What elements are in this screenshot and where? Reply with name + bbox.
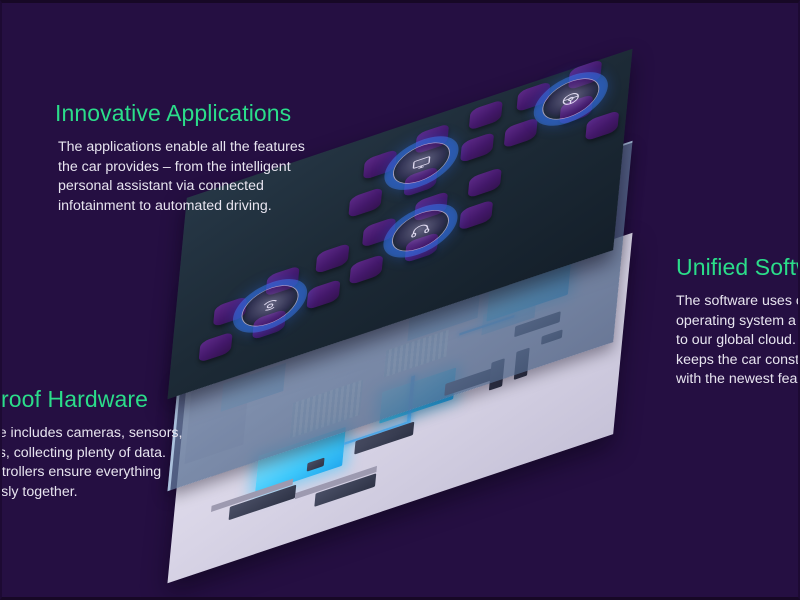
applications-heading: Innovative Applications bbox=[55, 100, 305, 127]
assistant-icon bbox=[407, 220, 433, 242]
app-tile bbox=[459, 199, 493, 231]
applications-body-line: personal assistant via connected bbox=[58, 177, 305, 197]
software-body-line: operating system a bbox=[676, 312, 800, 332]
hardware-body-line: re includes cameras, sensors, bbox=[0, 424, 182, 444]
hardware-text-block: roof Hardware re includes cameras, senso… bbox=[0, 386, 182, 502]
hardware-heading: roof Hardware bbox=[0, 386, 182, 413]
applications-text-block: Innovative Applications The applications… bbox=[55, 100, 305, 216]
hardware-body: re includes cameras, sensors, rs, collec… bbox=[0, 424, 182, 502]
software-body-line: with the newest fea bbox=[676, 370, 800, 390]
app-tile bbox=[198, 331, 232, 363]
app-tile bbox=[585, 110, 619, 142]
software-body: The software uses o operating system a t… bbox=[676, 292, 800, 390]
app-tile bbox=[469, 99, 503, 131]
app-tile bbox=[460, 132, 494, 164]
software-text-block: Unified Softw The software uses o operat… bbox=[676, 254, 800, 390]
app-tile bbox=[315, 243, 349, 275]
software-body-line: to our global cloud. bbox=[676, 331, 800, 351]
applications-body: The applications enable all the features… bbox=[55, 138, 305, 216]
hardware-body-line: ntrollers ensure everything bbox=[0, 463, 182, 483]
software-body-line: keeps the car const bbox=[676, 351, 800, 371]
software-body-line: The software uses o bbox=[676, 292, 800, 312]
screen-icon bbox=[408, 152, 434, 174]
app-tile bbox=[348, 187, 382, 219]
chip bbox=[354, 422, 414, 455]
hardware-body-line: ssly together. bbox=[0, 483, 182, 503]
app-tile bbox=[468, 167, 502, 199]
applications-body-line: infotainment to automated driving. bbox=[58, 197, 305, 217]
app-tile bbox=[504, 117, 538, 149]
applications-body-line: the car provides – from the intelligent bbox=[58, 158, 305, 178]
applications-body-line: The applications enable all the features bbox=[58, 138, 305, 158]
software-heading: Unified Softw bbox=[676, 254, 800, 281]
slide-canvas: Innovative Applications The applications… bbox=[0, 0, 800, 600]
connectivity-icon bbox=[257, 295, 283, 317]
steering-wheel-icon bbox=[558, 88, 584, 110]
hardware-body-line: rs, collecting plenty of data. bbox=[0, 444, 182, 464]
app-tile bbox=[349, 254, 383, 286]
app-tile bbox=[306, 279, 340, 311]
